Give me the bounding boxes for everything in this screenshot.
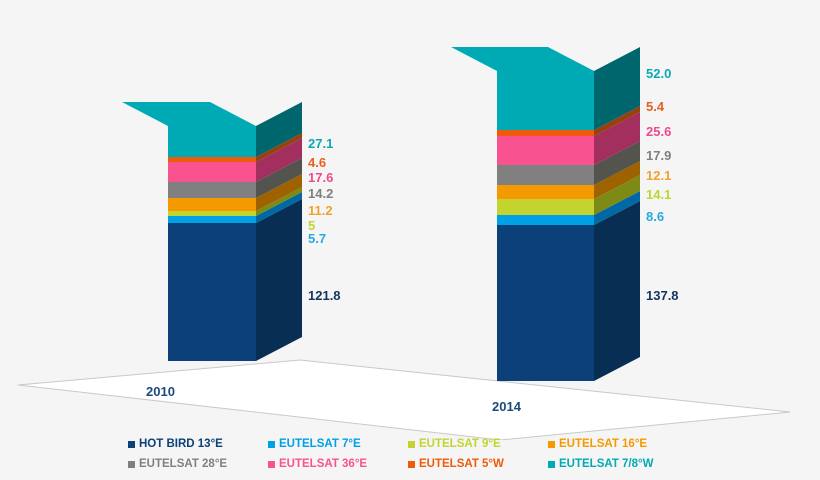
plot-area: 27.14.617.614.211.255.7121.852.05.425.61… bbox=[0, 0, 820, 430]
segment-front-2010-3 bbox=[168, 198, 256, 211]
segment-front-2010-5 bbox=[168, 162, 256, 182]
value-label-2010-hot-bird-13-e: 121.8 bbox=[308, 288, 341, 303]
legend-item-eutelsat-28-e[interactable]: EUTELSAT 28°E bbox=[128, 458, 227, 470]
column-2010 bbox=[168, 0, 256, 361]
legend-item-eutelsat-5-w[interactable]: EUTELSAT 5°W bbox=[408, 458, 504, 470]
legend-swatch-icon bbox=[268, 461, 275, 468]
legend-item-eutelsat-36-e[interactable]: EUTELSAT 36°E bbox=[268, 458, 367, 470]
chart-legend: HOT BIRD 13°EEUTELSAT 7°EEUTELSAT 9°EEUT… bbox=[0, 436, 820, 480]
legend-swatch-icon bbox=[128, 441, 135, 448]
legend-item-label: EUTELSAT 9°E bbox=[419, 438, 501, 450]
segment-front-2014-7 bbox=[497, 71, 594, 130]
segment-front-2014-5 bbox=[497, 136, 594, 165]
value-label-2010-eutelsat-16-e: 11.2 bbox=[308, 203, 333, 218]
value-label-2014-eutelsat-36-e: 25.6 bbox=[646, 124, 671, 139]
segment-front-2014-6 bbox=[497, 130, 594, 136]
legend-item-hot-bird-13-e[interactable]: HOT BIRD 13°E bbox=[128, 438, 223, 450]
legend-swatch-icon bbox=[268, 441, 275, 448]
column-top-2014 bbox=[451, 47, 594, 71]
segment-front-2010-7 bbox=[168, 126, 256, 157]
segment-front-2014-3 bbox=[497, 185, 594, 199]
legend-swatch-icon bbox=[128, 461, 135, 468]
stacked-column-chart: 27.14.617.614.211.255.7121.852.05.425.61… bbox=[0, 0, 820, 480]
column-top-2010 bbox=[122, 102, 256, 126]
legend-item-label: EUTELSAT 5°W bbox=[419, 458, 504, 470]
value-label-2014-eutelsat-7-e: 8.6 bbox=[646, 209, 664, 224]
legend-swatch-icon bbox=[548, 441, 555, 448]
segment-front-2010-2 bbox=[168, 211, 256, 217]
value-label-2014-eutelsat-7-8-w: 52.0 bbox=[646, 66, 671, 81]
legend-item-eutelsat-7-e[interactable]: EUTELSAT 7°E bbox=[268, 438, 361, 450]
column-side-2014 bbox=[594, 0, 640, 381]
segment-front-2014-2 bbox=[497, 199, 594, 215]
value-label-2014-eutelsat-16-e: 12.1 bbox=[646, 168, 671, 183]
segment-front-2014-0 bbox=[497, 225, 594, 381]
legend-item-label: EUTELSAT 16°E bbox=[559, 438, 647, 450]
legend-item-label: EUTELSAT 36°E bbox=[279, 458, 367, 470]
value-label-2010-eutelsat-7-e: 5.7 bbox=[308, 231, 326, 246]
legend-row-top: HOT BIRD 13°EEUTELSAT 7°EEUTELSAT 9°EEUT… bbox=[0, 438, 820, 458]
value-label-2014-eutelsat-5-w: 5.4 bbox=[646, 99, 664, 114]
value-label-2010-eutelsat-36-e: 17.6 bbox=[308, 170, 333, 185]
column-side-2010 bbox=[256, 0, 302, 361]
column-2014 bbox=[497, 0, 594, 381]
legend-swatch-icon bbox=[408, 441, 415, 448]
segment-side-2014-0 bbox=[594, 201, 640, 381]
legend-item-label: EUTELSAT 28°E bbox=[139, 458, 227, 470]
segment-front-2014-4 bbox=[497, 165, 594, 185]
legend-item-eutelsat-7-8-w[interactable]: EUTELSAT 7/8°W bbox=[548, 458, 653, 470]
legend-item-label: HOT BIRD 13°E bbox=[139, 438, 223, 450]
segment-front-2010-4 bbox=[168, 182, 256, 198]
value-label-2010-eutelsat-28-e: 14.2 bbox=[308, 186, 333, 201]
legend-item-eutelsat-9-e[interactable]: EUTELSAT 9°E bbox=[408, 438, 501, 450]
legend-item-label: EUTELSAT 7/8°W bbox=[559, 458, 653, 470]
category-label-2010: 2010 bbox=[146, 384, 175, 399]
legend-swatch-icon bbox=[408, 461, 415, 468]
legend-swatch-icon bbox=[548, 461, 555, 468]
segment-front-2014-1 bbox=[497, 215, 594, 225]
value-label-2014-eutelsat-9-e: 14.1 bbox=[646, 187, 671, 202]
legend-item-eutelsat-16-e[interactable]: EUTELSAT 16°E bbox=[548, 438, 647, 450]
value-label-2014-hot-bird-13-e: 137.8 bbox=[646, 288, 679, 303]
segment-front-2010-1 bbox=[168, 216, 256, 222]
category-label-2014: 2014 bbox=[492, 399, 521, 414]
legend-row-bottom: EUTELSAT 28°EEUTELSAT 36°EEUTELSAT 5°WEU… bbox=[0, 458, 820, 478]
segment-front-2010-0 bbox=[168, 223, 256, 361]
value-label-2014-eutelsat-28-e: 17.9 bbox=[646, 148, 671, 163]
value-label-2010-eutelsat-7-8-w: 27.1 bbox=[308, 136, 333, 151]
segment-side-2010-0 bbox=[256, 199, 302, 361]
legend-item-label: EUTELSAT 7°E bbox=[279, 438, 361, 450]
value-label-2010-eutelsat-5-w: 4.6 bbox=[308, 155, 326, 170]
segment-front-2010-6 bbox=[168, 157, 256, 162]
